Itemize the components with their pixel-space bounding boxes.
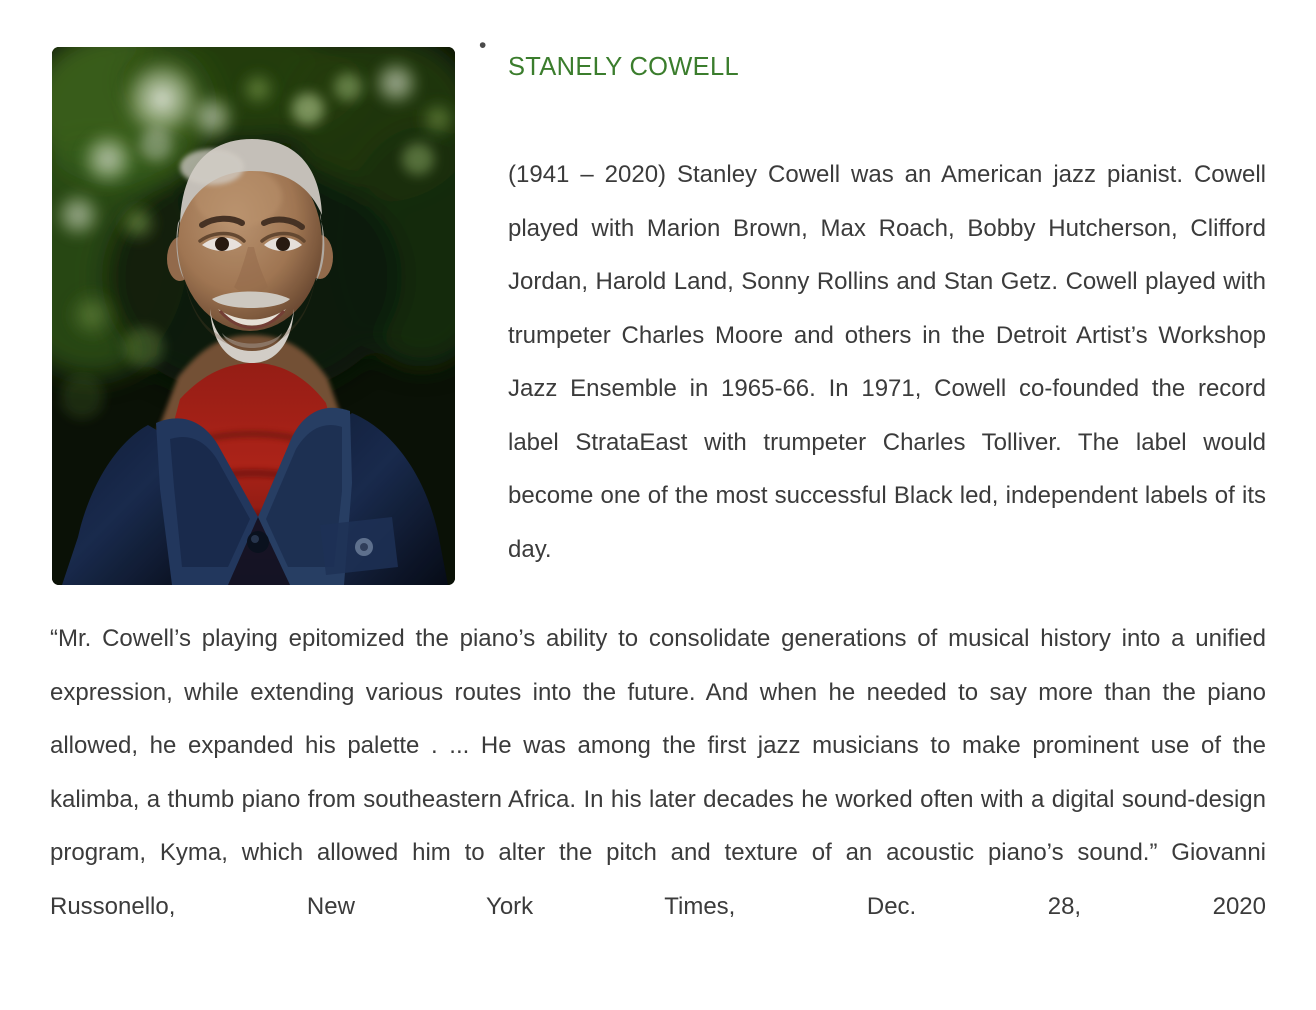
portrait-photo bbox=[52, 47, 455, 585]
entry-content-column: • STANELY COWELL (1941 – 2020) Stanley C… bbox=[478, 22, 1266, 576]
heading-body-gap bbox=[478, 112, 1266, 148]
entry-heading-row: • STANELY COWELL bbox=[478, 22, 1266, 112]
portrait-illustration bbox=[52, 47, 455, 585]
page-title: STANELY COWELL bbox=[508, 43, 1266, 91]
quotation-paragraph: “Mr. Cowell’s playing epitomized the pia… bbox=[50, 612, 1266, 987]
biography-paragraph: (1941 – 2020) Stanley Cowell was an Amer… bbox=[478, 148, 1266, 576]
article-page: • STANELY COWELL (1941 – 2020) Stanley C… bbox=[0, 0, 1316, 1010]
bullet-icon: • bbox=[478, 22, 508, 70]
